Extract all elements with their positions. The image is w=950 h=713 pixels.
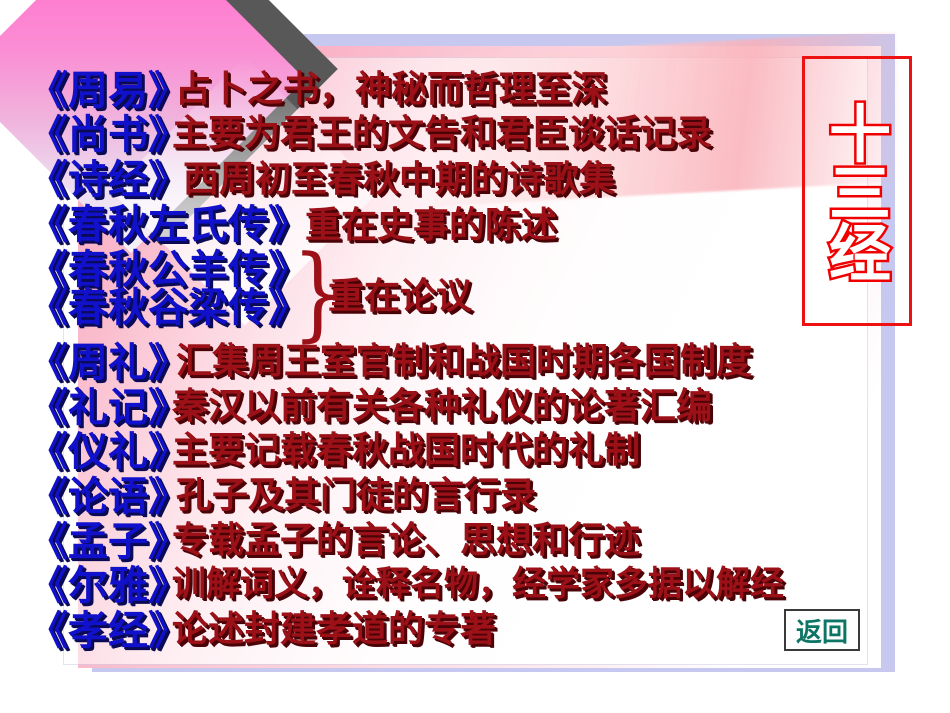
grouped-note-label: 重在论议 bbox=[328, 267, 472, 319]
vertical-title-text: 十 三 经 bbox=[805, 59, 915, 329]
book-title-xiaojing: 《孝经》 bbox=[28, 598, 188, 656]
book-title-chunqiu-guliang: 《春秋谷梁传》 bbox=[28, 275, 308, 333]
slide-canvas: 《周易》 占卜之书，神秘而哲理至深 《尚书》 主要为君王的文告和君臣谈话记录 《… bbox=[0, 0, 950, 713]
title-char-shi: 十 bbox=[829, 106, 891, 163]
book-desc-xiaojing: 论述封建孝道的专著 bbox=[172, 600, 496, 652]
book-desc-shangshu: 主要为君王的文告和君臣谈话记录 bbox=[172, 104, 712, 156]
title-char-jing: 经 bbox=[829, 225, 891, 282]
vertical-title-box: 十 三 经 bbox=[802, 56, 912, 326]
return-button[interactable]: 返回 bbox=[784, 609, 860, 651]
title-char-san: 三 bbox=[829, 165, 891, 222]
book-desc-erya: 训解词义，诠释名物，经学家多据以解经 bbox=[172, 556, 784, 605]
